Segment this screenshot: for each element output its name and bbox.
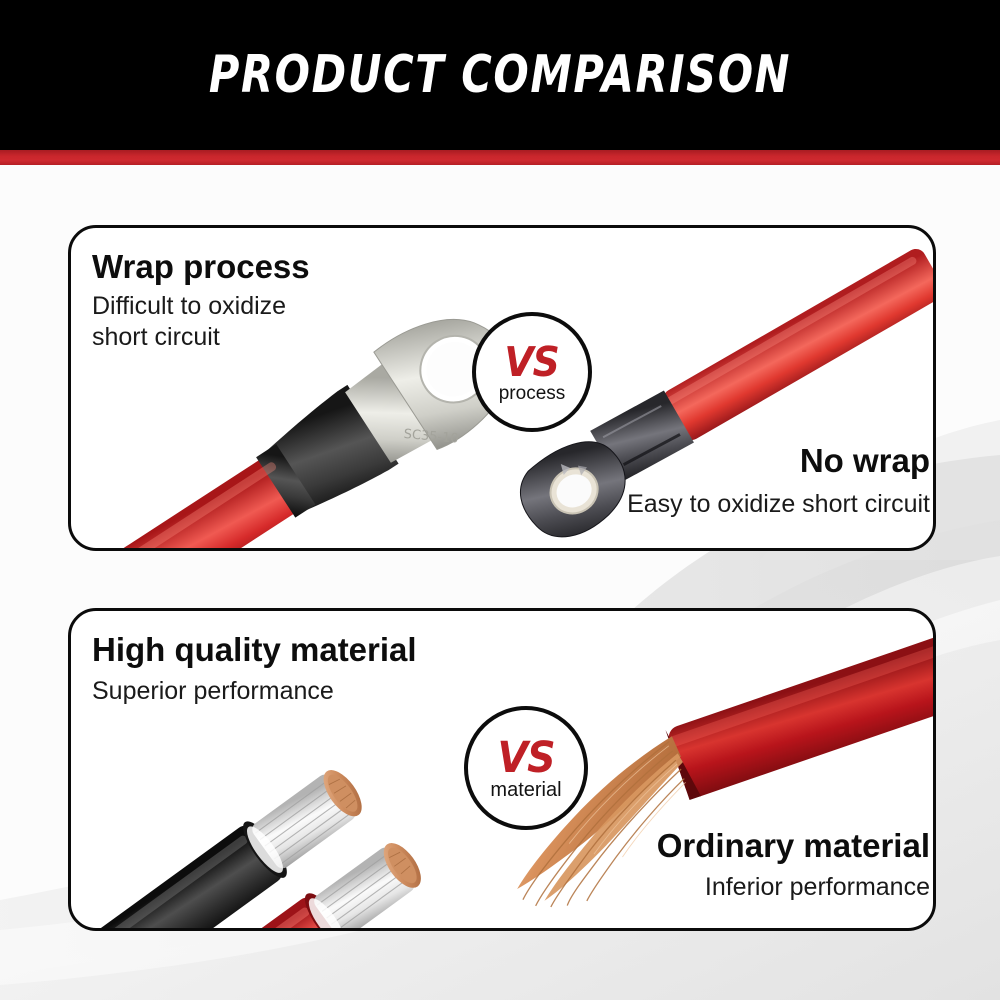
- high-quality-material-heading: High quality material: [92, 630, 417, 670]
- no-wrap-heading: No wrap: [520, 441, 930, 481]
- product-comparison-infographic: PRODUCT COMPARISON: [0, 0, 1000, 1000]
- ordinary-material-heading: Ordinary material: [500, 826, 930, 866]
- wrap-process-subtext-line1: Difficult to oxidize: [92, 292, 286, 320]
- svg-text:SC35-10: SC35-10: [403, 427, 459, 447]
- header-red-stripe: [0, 150, 1000, 165]
- page-title: PRODUCT COMPARISON: [100, 46, 900, 104]
- wrap-process-heading: Wrap process: [92, 247, 310, 287]
- wrap-process-subtext: Difficult to oxidizeshort circuit: [92, 291, 422, 353]
- vs-badge-material: VS material: [464, 706, 588, 830]
- vs-badge-process: VS process: [472, 312, 592, 432]
- vs-badge-process-label: process: [499, 383, 566, 405]
- high-quality-material-subtext: Superior performance: [92, 676, 492, 707]
- wrap-process-subtext-line2: short circuit: [92, 323, 220, 351]
- vs-label-word: VS: [497, 739, 554, 778]
- header-banner: PRODUCT COMPARISON: [0, 0, 1000, 150]
- vs-label-word: VS: [505, 343, 560, 382]
- ordinary-material-subtext: Inferior performance: [500, 872, 930, 903]
- no-wrap-subtext: Easy to oxidize short circuit: [470, 489, 930, 520]
